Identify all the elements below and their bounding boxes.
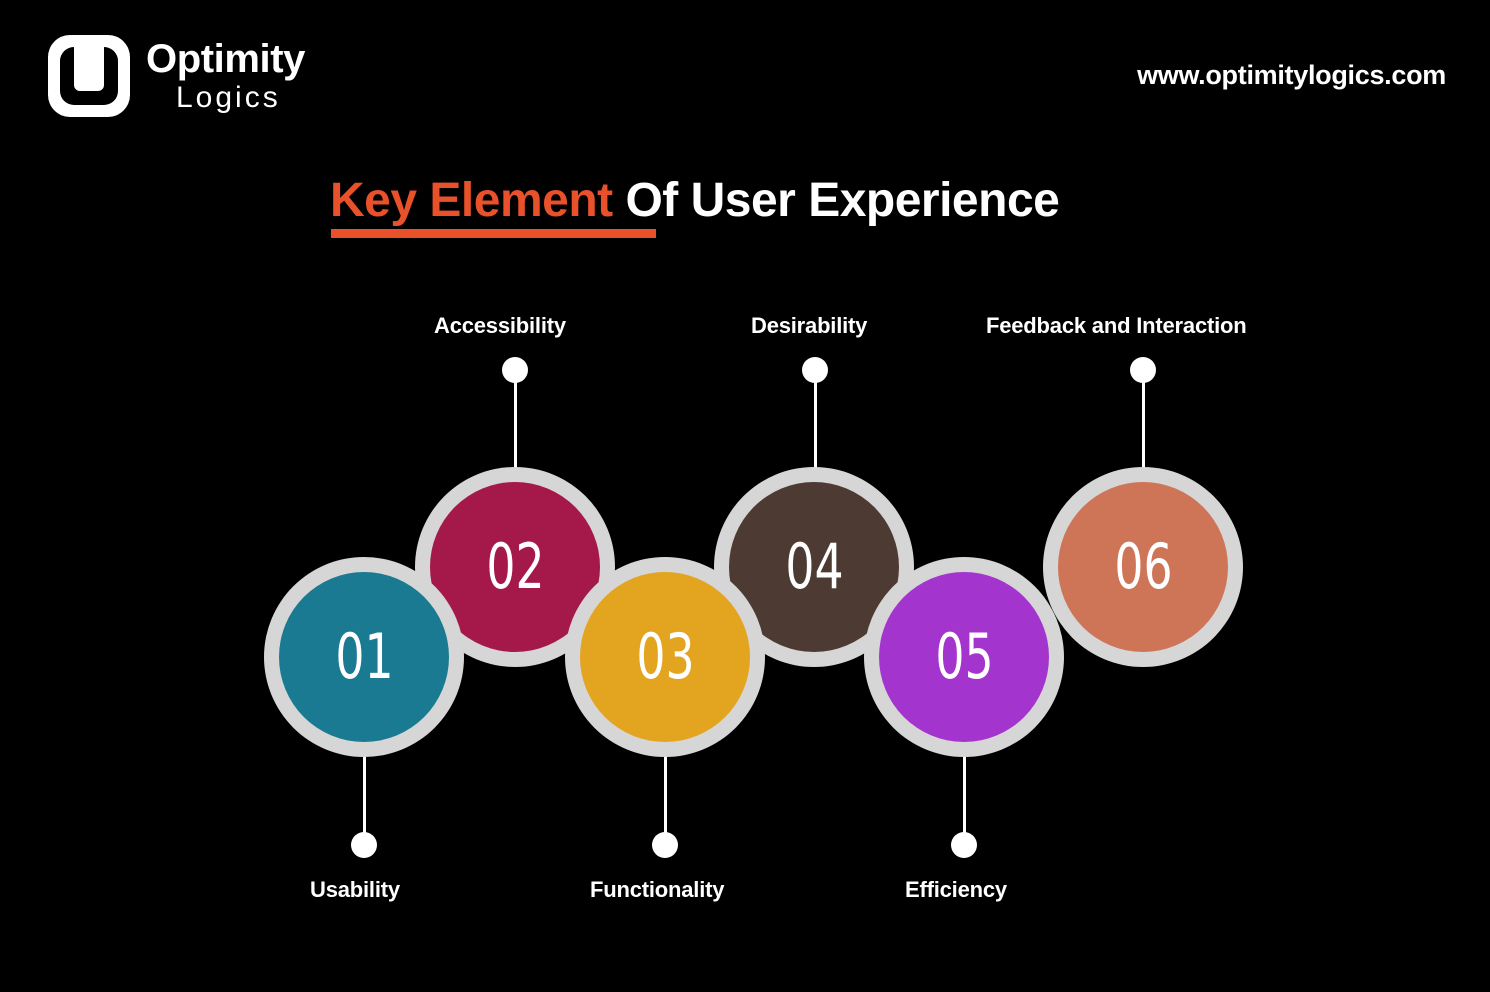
node-01-inner: 01 (279, 572, 449, 742)
node-label-accessibility: Accessibility (434, 313, 566, 339)
connector-dot-04 (802, 357, 828, 383)
node-01[interactable]: 01 (264, 557, 464, 757)
key-elements-diagram: 06 04 02 05 03 01 Accessibility Desirabi… (0, 0, 1490, 992)
connector-dot-03 (652, 832, 678, 858)
node-05[interactable]: 05 (864, 557, 1064, 757)
connector-dot-05 (951, 832, 977, 858)
node-02-number: 02 (486, 536, 544, 598)
connector-dot-02 (502, 357, 528, 383)
node-01-number: 01 (335, 626, 393, 688)
connector-dot-01 (351, 832, 377, 858)
node-label-functionality: Functionality (590, 877, 724, 903)
connector-dot-06 (1130, 357, 1156, 383)
node-label-desirability: Desirability (751, 313, 867, 339)
node-05-number: 05 (935, 626, 993, 688)
node-label-efficiency: Efficiency (905, 877, 1007, 903)
node-05-inner: 05 (879, 572, 1049, 742)
node-03-number: 03 (636, 626, 694, 688)
node-06-inner: 06 (1058, 482, 1228, 652)
node-06-number: 06 (1114, 536, 1172, 598)
node-03-inner: 03 (580, 572, 750, 742)
node-03[interactable]: 03 (565, 557, 765, 757)
node-04-number: 04 (785, 536, 843, 598)
node-label-feedback-and-interaction: Feedback and Interaction (986, 313, 1247, 339)
node-06[interactable]: 06 (1043, 467, 1243, 667)
node-label-usability: Usability (310, 877, 400, 903)
